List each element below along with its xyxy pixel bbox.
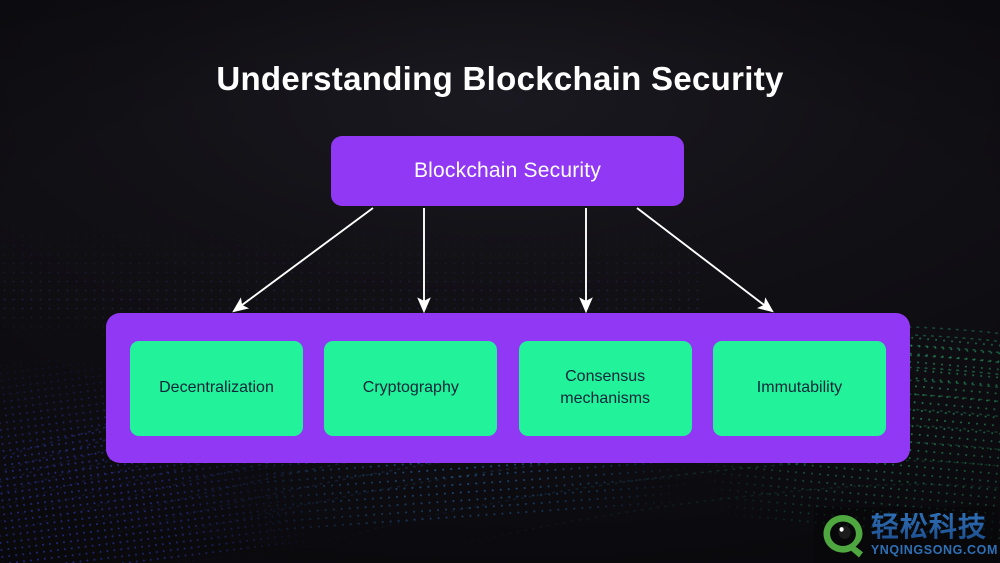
diagram-child-node-label: Cryptography (363, 377, 459, 399)
diagram-root-node[interactable]: Blockchain Security (331, 136, 684, 206)
diagram-child-node-immutability[interactable]: Immutability (713, 341, 886, 436)
q-eye-logo-icon (820, 512, 866, 558)
diagram-root-node-label: Blockchain Security (414, 159, 601, 183)
page-title: Understanding Blockchain Security (0, 60, 1000, 98)
watermark-text: 轻松科技 YNQINGSONG.COM (871, 513, 998, 557)
diagram-child-node-label: Consensus mechanisms (560, 366, 650, 410)
diagram-children-container: Decentralization Cryptography Consensus … (106, 313, 910, 463)
diagram-child-node-label: Immutability (757, 377, 842, 399)
watermark-url: YNQINGSONG.COM (871, 544, 998, 557)
slide-canvas: Understanding Blockchain Security Blockc… (0, 0, 1000, 563)
watermark-brand: 轻松科技 (871, 513, 998, 541)
diagram-child-node-cryptography[interactable]: Cryptography (324, 341, 497, 436)
diagram-child-node-decentralization[interactable]: Decentralization (130, 341, 303, 436)
diagram-child-node-consensus-mechanisms[interactable]: Consensus mechanisms (519, 341, 692, 436)
diagram-child-node-label: Decentralization (159, 377, 274, 399)
watermark: 轻松科技 YNQINGSONG.COM (814, 507, 998, 563)
